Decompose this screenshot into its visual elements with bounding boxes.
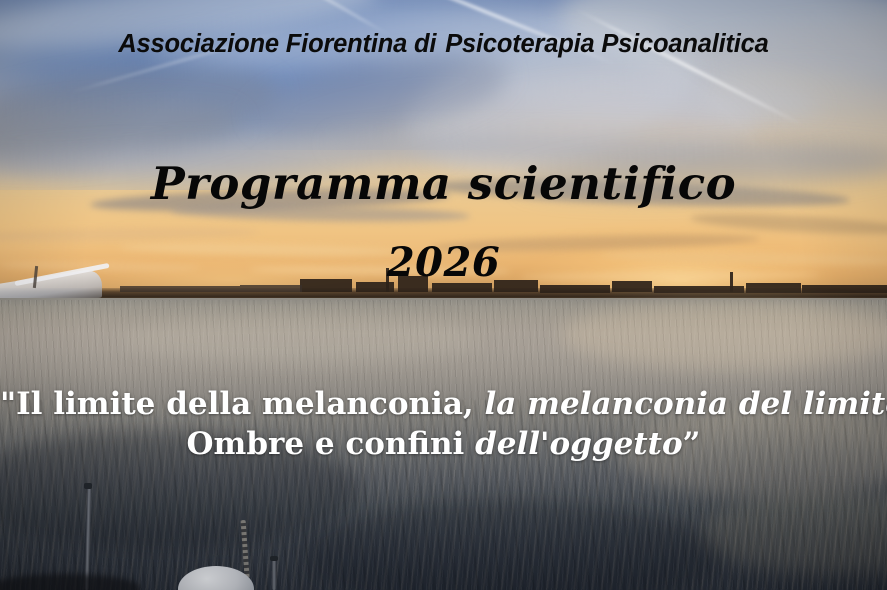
quote-line-2-italic: dell'oggetto bbox=[475, 426, 683, 462]
poster-canvas: Associazione Fiorentina diPsicoterapia P… bbox=[0, 0, 887, 590]
theme-quote-line-1: "Il limite della melanconia, la melancon… bbox=[0, 384, 887, 424]
quote-close-mark: ” bbox=[683, 426, 701, 462]
quote-open-mark: " bbox=[0, 386, 16, 422]
quote-line-1-italic: la melanconia del limite. bbox=[485, 386, 887, 422]
organization-name: Associazione Fiorentina diPsicoterapia P… bbox=[0, 30, 887, 59]
programme-title: Programma scientifico bbox=[0, 157, 887, 210]
poster-text-layer: Associazione Fiorentina diPsicoterapia P… bbox=[0, 0, 887, 590]
organization-name-part-2: Psicoterapia Psicoanalitica bbox=[445, 30, 768, 58]
organization-name-part-1: Associazione Fiorentina di bbox=[118, 30, 436, 58]
theme-quote-line-2: Ombre e confini dell'oggetto” bbox=[0, 424, 887, 464]
programme-year: 2026 bbox=[0, 239, 887, 286]
quote-line-2-roman: Ombre e confini bbox=[187, 426, 465, 462]
quote-line-1-roman: Il limite della melanconia, bbox=[16, 386, 474, 422]
theme-quote: "Il limite della melanconia, la melancon… bbox=[0, 384, 887, 464]
